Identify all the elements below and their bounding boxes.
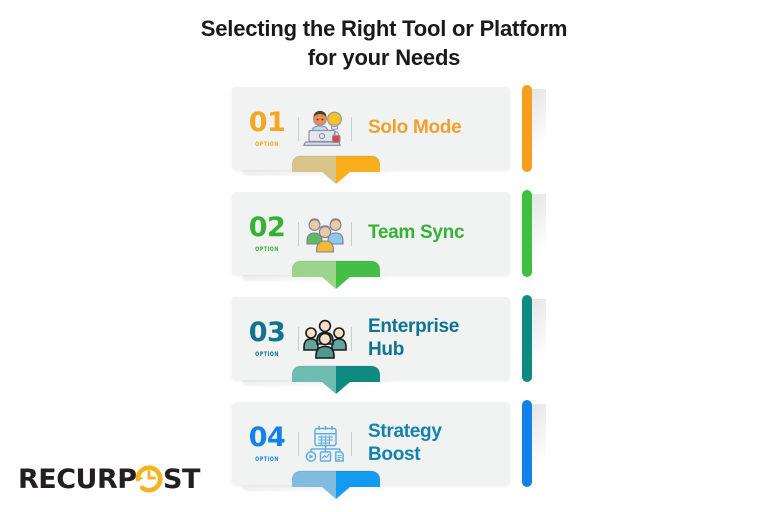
option-number: 03 — [236, 319, 298, 346]
recurring-clock-icon — [135, 468, 160, 490]
option-card-02[interactable]: 02 OPTION — [232, 192, 542, 275]
logo-text-before: RECURP — [18, 464, 137, 495]
page-title-line-2: for your Needs — [0, 43, 768, 72]
option-title: Solo Mode — [352, 117, 510, 139]
ribbon-decoration — [292, 257, 380, 289]
option-title-line-1: Strategy — [368, 421, 442, 442]
calendar-content-plan-icon — [299, 421, 351, 467]
page-title: Selecting the Right Tool or Platform for… — [0, 14, 768, 72]
option-number: 04 — [236, 424, 298, 451]
ribbon-decoration — [292, 362, 380, 394]
accent-bar — [522, 400, 532, 487]
option-number-block: 04 OPTION — [232, 424, 298, 463]
accent-bar — [522, 295, 532, 382]
recurpost-logo-mark: RECURP ST — [18, 462, 203, 496]
option-number-block: 02 OPTION — [232, 214, 298, 253]
option-card-01[interactable]: 01 OPTION — [232, 87, 542, 170]
option-number-label: OPTION — [242, 245, 293, 253]
option-title: Strategy Boost — [352, 421, 510, 465]
option-title-line-1: Team Sync — [368, 222, 464, 243]
ribbon-decoration — [292, 152, 380, 184]
option-number-label: OPTION — [242, 350, 293, 358]
three-people-team-icon — [299, 211, 351, 257]
page-title-line-1: Selecting the Right Tool or Platform — [0, 14, 768, 43]
ribbon-decoration — [292, 467, 380, 499]
people-group-enterprise-icon — [299, 316, 351, 362]
accent-bar — [522, 85, 532, 172]
logo-text-after: ST — [163, 464, 201, 495]
option-card-04[interactable]: 04 OPTION — [232, 402, 542, 485]
accent-bar — [522, 190, 532, 277]
option-number: 01 — [236, 109, 298, 136]
option-title: Team Sync — [352, 222, 510, 244]
option-title-line-2: Hub — [368, 339, 404, 360]
option-number-label: OPTION — [242, 140, 293, 148]
option-number-block: 03 OPTION — [232, 319, 298, 358]
option-number-label: OPTION — [242, 455, 293, 463]
option-title-line-1: Solo Mode — [368, 117, 461, 138]
recurpost-logo[interactable]: RECURP ST RECURPOST — [18, 462, 203, 496]
option-title-line-1: Enterprise — [368, 316, 459, 337]
person-laptop-idea-icon — [299, 106, 351, 152]
option-title: Enterprise Hub — [352, 316, 510, 360]
option-number: 02 — [236, 214, 298, 241]
option-number-block: 01 OPTION — [232, 109, 298, 148]
option-title-line-2: Boost — [368, 444, 420, 465]
option-card-03[interactable]: 03 OPTION — [232, 297, 542, 380]
options-list: 01 OPTION — [232, 87, 542, 485]
